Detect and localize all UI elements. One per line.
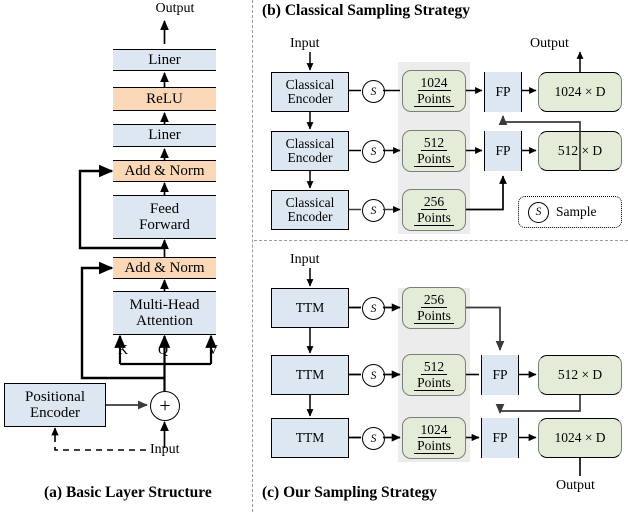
connector-overlay bbox=[0, 0, 628, 512]
figure-root: Output Liner ReLU Liner Add & Norm Feed … bbox=[0, 0, 628, 512]
